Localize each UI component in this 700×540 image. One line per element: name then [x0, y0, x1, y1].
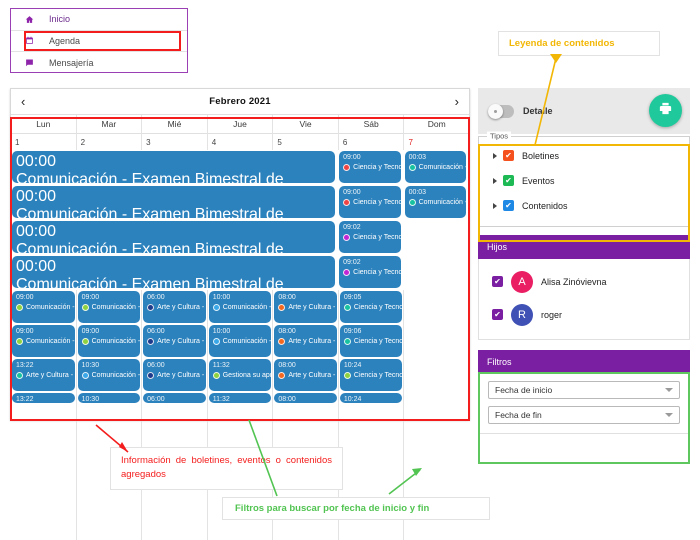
event-time: 10:30	[82, 395, 138, 403]
day-name: Sáb	[339, 115, 404, 134]
event-time: 13:22	[16, 395, 72, 403]
event-title: Gestiona su apr	[223, 370, 272, 381]
event-title-row: Comunicación -	[82, 302, 138, 313]
event-time: 09:00	[82, 293, 138, 302]
hijos-title: Hijos	[478, 235, 690, 259]
event-title-row: Comunicación -	[16, 302, 72, 313]
event-title: Ciencia y Tecnol	[354, 370, 403, 381]
event-time: 09:00	[343, 153, 397, 162]
event-title: Comunicación -	[223, 302, 272, 313]
event-chip[interactable]: 09:00Comunicación -	[12, 325, 75, 357]
hijo-checkbox[interactable]: ✔	[492, 276, 503, 287]
event-column: 09:00Comunicación -09:00Comunicación -13…	[11, 290, 77, 540]
long-event-row: 00:00Comunicación - Examen Bimestral de …	[11, 255, 469, 290]
event-color-dot	[213, 372, 220, 379]
event-chip[interactable]: 00:03Comunicación -	[405, 151, 466, 183]
day-number: 7	[404, 134, 469, 150]
event-time: 10:24	[344, 395, 400, 403]
event-title-row: Comunicación -	[213, 302, 269, 313]
event-title-row: Ciencia y Tecnol	[343, 162, 397, 173]
print-button[interactable]	[649, 94, 682, 127]
event-title-row: Arte y Cultura - L	[147, 336, 203, 347]
event-title: Comunicación -	[26, 336, 75, 347]
event-column: 09:00Comunicación -09:00Comunicación -10…	[77, 290, 143, 540]
hijo-name: roger	[541, 310, 562, 320]
event-time: 08:00	[278, 293, 334, 302]
long-event-row: 00:00Comunicación - Examen Bimestral de …	[11, 220, 469, 255]
event-color-dot	[147, 338, 154, 345]
event-chip[interactable]: 09:06Ciencia y Tecnol	[340, 325, 403, 357]
event-title-row: Comunicación - Examen Bimestral de Comun…	[16, 206, 331, 218]
event-title-row: Comunicación - Examen Bimestral de Comun…	[16, 241, 331, 253]
event-chip[interactable]: 08:00Arte y Cultura - E	[274, 325, 337, 357]
calendar-header: ‹ › Febrero 2021	[11, 89, 469, 115]
event-title: Comunicación -	[92, 336, 141, 347]
long-event-chip[interactable]: 00:00Comunicación - Examen Bimestral de …	[12, 186, 335, 218]
event-title: Arte y Cultura - L	[157, 370, 206, 381]
event-title-row: Comunicación -	[409, 197, 463, 208]
event-color-dot	[82, 338, 89, 345]
long-event-row: 00:00Comunicación - Examen Bimestral de …	[11, 185, 469, 220]
event-title-row: Ciencia y Tecnol	[343, 267, 397, 278]
event-chip[interactable]: 06:00Arte y Cultura - L	[143, 291, 206, 323]
event-color-dot	[343, 269, 350, 276]
tipo-checkbox[interactable]: ✔	[503, 200, 514, 211]
day-number-col[interactable]: 5	[273, 134, 339, 150]
event-color-dot	[16, 338, 23, 345]
event-chip[interactable]: 09:02Ciencia y Tecnol	[339, 256, 400, 288]
event-title: Arte y Cultura - E	[288, 302, 337, 313]
hijos-section: Hijos ✔AAlisa Zinóvievna✔Rroger	[478, 235, 690, 340]
event-time: 08:00	[278, 361, 334, 370]
day-col-mar: Mar	[77, 115, 143, 134]
day-number-col[interactable]: 7	[404, 134, 469, 150]
event-time: 08:00	[278, 327, 334, 336]
tipo-row-boletines[interactable]: ✔Boletines	[487, 143, 681, 168]
annotation-leyenda: Leyenda de contenidos	[498, 31, 660, 56]
detail-bar: Detalle	[478, 88, 690, 134]
day-number: 3	[142, 134, 207, 150]
filtros-section: Filtros Fecha de inicioFecha de fin	[478, 350, 690, 434]
side-menu: Inicio Agenda Mensajería	[10, 8, 188, 73]
event-time: 00:03	[409, 153, 463, 162]
event-color-dot	[344, 304, 351, 311]
printer-icon	[658, 101, 673, 121]
event-time: 09:00	[82, 327, 138, 336]
event-title: Ciencia y Tecnol	[353, 267, 400, 278]
event-title: Comunicación - Examen Bimestral de Comun…	[16, 171, 284, 183]
event-time: 09:00	[343, 188, 397, 197]
long-event-chip[interactable]: 00:00Comunicación - Examen Bimestral de …	[12, 256, 335, 288]
event-time: 11:32	[213, 361, 269, 370]
event-color-dot	[344, 338, 351, 345]
event-color-dot	[82, 372, 89, 379]
event-time: 09:06	[344, 327, 400, 336]
event-time: 10:00	[213, 293, 269, 302]
long-event-chip[interactable]: 00:00Comunicación - Examen Bimestral de …	[12, 151, 335, 183]
day-number-col[interactable]: 4	[208, 134, 274, 150]
avatar: A	[511, 271, 533, 293]
menu-item-inicio[interactable]: Inicio	[11, 9, 187, 31]
event-title-row: Arte y Cultura - E	[278, 336, 334, 347]
day-number: 4	[208, 134, 273, 150]
event-time: 09:00	[16, 327, 72, 336]
event-title-row: Comunicación - Examen Bimestral de Comun…	[16, 171, 331, 183]
event-time: 10:24	[344, 361, 400, 370]
event-time: 13:22	[16, 361, 72, 370]
event-title: Comunicación - Examen Bimestral de Comun…	[16, 241, 284, 253]
menu-item-mensajeria[interactable]: Mensajería	[11, 52, 187, 74]
calendar-title: Febrero 2021	[11, 96, 469, 107]
message-icon	[19, 58, 39, 67]
hijo-row[interactable]: ✔Rroger	[479, 298, 689, 331]
tipos-box: Tipos ✔Boletines✔Eventos✔Contenidos	[478, 136, 690, 227]
event-chip[interactable]: 06:00Arte y Cultura - L	[143, 325, 206, 357]
day-name: Lun	[11, 115, 76, 134]
event-chip[interactable]: 10:24Ciencia y Tecnol	[340, 359, 403, 391]
day-of-week-row: LunMarMiéJueVieSábDom	[11, 115, 469, 134]
tipos-list: ✔Boletines✔Eventos✔Contenidos	[487, 143, 681, 218]
day-name: Mié	[142, 115, 207, 134]
event-time: 00:00	[16, 223, 331, 241]
event-title-row: Comunicación -	[409, 162, 463, 173]
event-chip[interactable]: 13:22Arte y Cultura - M	[12, 359, 75, 391]
day-name: Dom	[404, 115, 469, 134]
event-time: 00:03	[409, 188, 463, 197]
day-name: Mar	[77, 115, 142, 134]
event-chip[interactable]: 09:00Comunicación -	[12, 291, 75, 323]
event-title: Arte y Cultura - L	[157, 336, 206, 347]
event-color-dot	[278, 304, 285, 311]
hijos-list: ✔AAlisa Zinóvievna✔Rroger	[478, 259, 690, 340]
detalle-label: Detalle	[523, 106, 553, 116]
day-col-dom: Dom	[404, 115, 469, 134]
event-chip[interactable]: 09:02Ciencia y Tecnol	[339, 221, 400, 253]
event-chip[interactable]: 08:00Arte y Cultura - E	[274, 359, 337, 391]
event-chip[interactable]: 09:00Comunicación -	[78, 325, 141, 357]
event-chip[interactable]: 10:30Comunicación -	[78, 359, 141, 391]
tipo-label: Eventos	[522, 176, 555, 186]
event-time: 06:00	[147, 361, 203, 370]
event-chip[interactable]: 10:00Comunicación -	[209, 325, 272, 357]
event-chip	[405, 359, 468, 391]
day-number: 6	[339, 134, 404, 150]
filtro-select-1[interactable]: Fecha de fin	[488, 406, 680, 424]
chevron-down-icon	[665, 413, 673, 417]
event-color-dot	[409, 164, 416, 171]
tipo-checkbox[interactable]: ✔	[503, 150, 514, 161]
long-event-chip[interactable]: 00:00Comunicación - Examen Bimestral de …	[12, 221, 335, 253]
event-title: Arte y Cultura - L	[157, 302, 206, 313]
avatar: R	[511, 304, 533, 326]
hijo-name: Alisa Zinóvievna	[541, 277, 607, 287]
tipo-row-eventos[interactable]: ✔Eventos	[487, 168, 681, 193]
hijo-checkbox[interactable]: ✔	[492, 309, 503, 320]
event-color-dot	[343, 164, 350, 171]
event-chip[interactable]: 00:03Comunicación -	[405, 186, 466, 218]
event-title-row: Comunicación -	[213, 336, 269, 347]
event-title: Comunicación -	[92, 370, 141, 381]
event-title-row: Ciencia y Tecnol	[344, 302, 400, 313]
event-title: Comunicación - Examen Bimestral de Comun…	[16, 276, 316, 288]
event-title-row: Arte y Cultura - M	[16, 370, 72, 381]
chevron-down-icon	[665, 388, 673, 392]
event-color-dot	[278, 372, 285, 379]
day-col-vie: Vie	[273, 115, 339, 134]
menu-item-agenda[interactable]: Agenda	[11, 31, 187, 53]
event-time: 06:00	[147, 293, 203, 302]
annotation-info: Información de boletines, eventos o cont…	[110, 447, 343, 490]
event-color-dot	[344, 372, 351, 379]
menu-item-agenda-label: Agenda	[49, 36, 80, 46]
filtro-value: Fecha de fin	[495, 410, 542, 420]
event-title: Comunicación -	[26, 302, 75, 313]
event-title: Comunicación -	[419, 162, 466, 173]
event-time: 09:02	[343, 258, 397, 267]
event-time: 09:05	[344, 293, 400, 302]
day-col-lun: Lun	[11, 115, 77, 134]
day-col-sáb: Sáb	[339, 115, 405, 134]
event-color-dot	[147, 372, 154, 379]
event-time: 06:00	[147, 327, 203, 336]
day-col-jue: Jue	[208, 115, 274, 134]
long-event-bars: 00:00Comunicación - Examen Bimestral de …	[11, 150, 469, 290]
filtro-value: Fecha de inicio	[495, 385, 552, 395]
event-title-row: Arte y Cultura - E	[278, 302, 334, 313]
long-event-row: 00:00Comunicación - Examen Bimestral de …	[11, 150, 469, 185]
event-time: 08:00	[278, 395, 334, 403]
event-title: Ciencia y Tecnol	[353, 232, 400, 243]
calendar-card: ‹ › Febrero 2021 LunMarMiéJueVieSábDom 1…	[10, 88, 470, 420]
event-chip[interactable]: 09:00Ciencia y Tecnol	[339, 151, 400, 183]
day-number: 2	[77, 134, 142, 150]
event-chip[interactable]: 06:00Arte y Cultura - L	[143, 359, 206, 391]
expand-triangle-icon[interactable]	[493, 153, 497, 159]
event-color-dot	[343, 234, 350, 241]
day-number-col[interactable]: 3	[142, 134, 208, 150]
event-title: Ciencia y Tecnol	[353, 197, 400, 208]
event-title-row: Comunicación -	[82, 370, 138, 381]
event-title-row: Comunicación - Examen Bimestral de Comun…	[16, 276, 331, 288]
filtros-fields: Fecha de inicioFecha de fin	[478, 374, 690, 434]
home-icon	[19, 15, 39, 24]
day-number: 1	[11, 134, 76, 150]
event-title-row: Ciencia y Tecnol	[343, 232, 397, 243]
event-color-dot	[147, 304, 154, 311]
event-chip[interactable]: 10:00Comunicación -	[209, 291, 272, 323]
hijo-row[interactable]: ✔AAlisa Zinóvievna	[479, 265, 689, 298]
event-chip[interactable]: 11:32Gestiona su apr	[209, 393, 272, 403]
event-time: 06:00	[147, 395, 203, 403]
day-name: Vie	[273, 115, 338, 134]
event-title: Comunicación -	[92, 302, 141, 313]
event-title: Comunicación - Examen Bimestral de Comun…	[16, 206, 284, 218]
filtro-select-0[interactable]: Fecha de inicio	[488, 381, 680, 399]
event-color-dot	[16, 304, 23, 311]
event-title-row: Arte y Cultura - L	[147, 370, 203, 381]
event-time: 00:00	[16, 153, 331, 171]
event-time: 00:00	[16, 188, 331, 206]
day-number-col[interactable]: 1	[11, 134, 77, 150]
event-time: 09:00	[16, 293, 72, 302]
event-chip[interactable]: 13:22Arte y Cultura - M	[12, 393, 75, 403]
event-title: Comunicación -	[419, 197, 466, 208]
event-time: 10:00	[213, 327, 269, 336]
event-chip	[405, 325, 468, 357]
event-color-dot	[278, 338, 285, 345]
event-title-row: Ciencia y Tecnol	[344, 336, 400, 347]
event-chip[interactable]: 06:00Arte y Cultura - L	[143, 393, 206, 403]
event-color-dot	[82, 304, 89, 311]
expand-triangle-icon[interactable]	[493, 178, 497, 184]
event-column: 06:00Arte y Cultura - L06:00Arte y Cultu…	[142, 290, 208, 540]
event-color-dot	[213, 304, 220, 311]
event-title-row: Gestiona su apr	[213, 370, 269, 381]
event-title: Ciencia y Tecnol	[353, 162, 400, 173]
event-color-dot	[409, 199, 416, 206]
event-title: Comunicación -	[223, 336, 272, 347]
tipo-label: Contenidos	[522, 201, 568, 211]
event-chip[interactable]: 09:05Ciencia y Tecnol	[340, 291, 403, 323]
day-number-col[interactable]: 2	[77, 134, 143, 150]
event-color-dot	[16, 372, 23, 379]
detalle-toggle[interactable]	[488, 105, 514, 118]
event-chip[interactable]: 09:00Comunicación -	[78, 291, 141, 323]
expand-triangle-icon[interactable]	[493, 203, 497, 209]
event-chip[interactable]: 09:00Ciencia y Tecnol	[339, 186, 400, 218]
event-chip[interactable]: 10:24Ciencia y Tecnol	[340, 393, 403, 403]
event-title: Arte y Cultura - E	[288, 336, 337, 347]
event-title-row: Ciencia y Tecnol	[344, 370, 400, 381]
event-time: 10:30	[82, 361, 138, 370]
day-col-mié: Mié	[142, 115, 208, 134]
event-title: Ciencia y Tecnol	[354, 336, 403, 347]
day-number-col[interactable]: 6	[339, 134, 405, 150]
event-chip[interactable]: 11:32Gestiona su apr	[209, 359, 272, 391]
tipos-legend-label: Tipos	[487, 132, 511, 141]
menu-item-inicio-label: Inicio	[49, 14, 70, 24]
event-color-dot	[343, 199, 350, 206]
event-chip[interactable]: 08:00Arte y Cultura - E	[274, 291, 337, 323]
tipo-label: Boletines	[522, 151, 559, 161]
filtros-title: Filtros	[478, 350, 690, 374]
event-title-row: Arte y Cultura - L	[147, 302, 203, 313]
event-title-row: Arte y Cultura - E	[278, 370, 334, 381]
event-time: 00:00	[16, 258, 331, 276]
event-color-dot	[213, 338, 220, 345]
tipo-row-contenidos[interactable]: ✔Contenidos	[487, 193, 681, 218]
event-chip[interactable]: 10:30Comunicación -	[78, 393, 141, 403]
event-time: 11:32	[213, 395, 269, 403]
tipo-checkbox[interactable]: ✔	[503, 175, 514, 186]
event-title-row: Ciencia y Tecnol	[343, 197, 397, 208]
day-name: Jue	[208, 115, 273, 134]
event-chip	[405, 291, 468, 323]
event-chip[interactable]: 08:00Arte y Cultura - E	[274, 393, 337, 403]
annotation-filtros: Filtros para buscar por fecha de inicio …	[222, 497, 490, 520]
event-title: Arte y Cultura - M	[26, 370, 75, 381]
event-title-row: Comunicación -	[82, 336, 138, 347]
calendar-icon	[19, 36, 39, 45]
event-title: Ciencia y Tecnol	[354, 302, 403, 313]
day-number-row: 1234567	[11, 134, 469, 150]
event-title-row: Comunicación -	[16, 336, 72, 347]
event-time: 09:02	[343, 223, 397, 232]
event-title: Arte y Cultura - E	[288, 370, 337, 381]
day-number: 5	[273, 134, 338, 150]
right-panel: Detalle Tipos ✔Boletines✔Eventos✔Conteni…	[478, 88, 690, 468]
menu-item-mensajeria-label: Mensajería	[49, 58, 94, 68]
